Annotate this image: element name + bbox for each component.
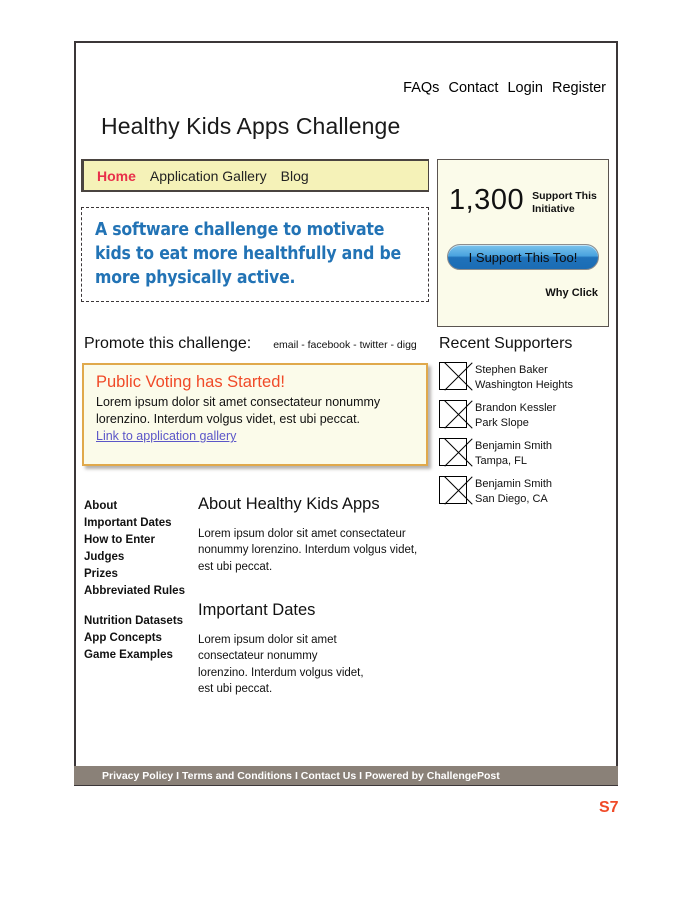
section-body-important-dates: Lorem ipsum dolor sit amet consectateur … xyxy=(198,632,370,697)
supporter-info: Benjamin Smith Tampa, FL xyxy=(475,438,552,468)
slide-label: S7 xyxy=(599,799,619,817)
public-voting-alert: Public Voting has Started! Lorem ipsum d… xyxy=(82,363,428,466)
supporter-info: Benjamin Smith San Diego, CA xyxy=(475,476,552,506)
nav-item-blog[interactable]: Blog xyxy=(281,168,309,184)
supporter-location: Park Slope xyxy=(475,416,556,431)
support-panel: 1,300 Support This Initiative I Support … xyxy=(437,159,609,327)
sidebar-item-nutrition-datasets[interactable]: Nutrition Datasets xyxy=(84,613,194,630)
avatar-placeholder-icon xyxy=(439,362,467,390)
avatar-placeholder-icon xyxy=(439,400,467,428)
tagline-text: A software challenge to motivate kids to… xyxy=(95,219,415,291)
header-link-contact[interactable]: Contact xyxy=(448,80,498,96)
recent-supporters-title: Recent Supporters xyxy=(439,335,611,353)
sidebar-item-prizes[interactable]: Prizes xyxy=(84,566,194,583)
support-caption: Support This Initiative xyxy=(532,190,608,215)
section-body-about: Lorem ipsum dolor sit amet consectateur … xyxy=(198,526,428,575)
header-link-faqs[interactable]: FAQs xyxy=(403,80,439,96)
sidebar-item-abbreviated-rules[interactable]: Abbreviated Rules xyxy=(84,583,194,600)
supporter-name: Benjamin Smith xyxy=(475,439,552,454)
section-heading-important-dates: Important Dates xyxy=(198,601,428,620)
alert-body: Lorem ipsum dolor sit amet consectateur … xyxy=(96,394,414,427)
list-item[interactable]: Benjamin Smith San Diego, CA xyxy=(439,476,611,506)
sidebar-item-app-concepts[interactable]: App Concepts xyxy=(84,630,194,647)
support-count-row: 1,300 Support This Initiative xyxy=(449,186,608,215)
support-this-too-button[interactable]: I Support This Too! xyxy=(447,244,599,270)
supporter-location: Washington Heights xyxy=(475,378,573,393)
sidebar-group-resources: Nutrition Datasets App Concepts Game Exa… xyxy=(84,613,194,664)
sidebar-item-about[interactable]: About xyxy=(84,498,194,515)
nav-item-home[interactable]: Home xyxy=(97,168,136,184)
why-click-link[interactable]: Why Click xyxy=(545,287,598,299)
sidebar-item-how-to-enter[interactable]: How to Enter xyxy=(84,532,194,549)
supporter-location: Tampa, FL xyxy=(475,454,552,469)
main-content: About Healthy Kids Apps Lorem ipsum dolo… xyxy=(198,495,428,723)
avatar-placeholder-icon xyxy=(439,438,467,466)
header-link-login[interactable]: Login xyxy=(507,80,542,96)
browser-page-frame: FAQs Contact Login Register Healthy Kids… xyxy=(74,41,618,786)
supporter-location: San Diego, CA xyxy=(475,492,552,507)
list-item[interactable]: Brandon Kessler Park Slope xyxy=(439,400,611,430)
avatar-placeholder-icon xyxy=(439,476,467,504)
supporter-info: Stephen Baker Washington Heights xyxy=(475,362,573,392)
secondary-sidebar: About Important Dates How to Enter Judge… xyxy=(84,498,194,677)
nav-item-application-gallery[interactable]: Application Gallery xyxy=(150,168,267,184)
supporter-info: Brandon Kessler Park Slope xyxy=(475,400,556,430)
promote-label: Promote this challenge: xyxy=(84,335,251,353)
primary-navigation: Home Application Gallery Blog xyxy=(81,159,429,192)
section-heading-about: About Healthy Kids Apps xyxy=(198,495,428,514)
sidebar-group-primary: About Important Dates How to Enter Judge… xyxy=(84,498,194,600)
footer-bar: Privacy Policy I Terms and Conditions I … xyxy=(74,766,618,785)
header-link-register[interactable]: Register xyxy=(552,80,606,96)
recent-supporters-panel: Recent Supporters Stephen Baker Washingt… xyxy=(439,335,611,514)
page-title: Healthy Kids Apps Challenge xyxy=(101,113,400,140)
promote-share-links[interactable]: email - facebook - twitter - digg xyxy=(273,339,417,351)
list-item[interactable]: Benjamin Smith Tampa, FL xyxy=(439,438,611,468)
support-count: 1,300 xyxy=(449,186,524,215)
list-item[interactable]: Stephen Baker Washington Heights xyxy=(439,362,611,392)
sidebar-item-judges[interactable]: Judges xyxy=(84,549,194,566)
sidebar-item-important-dates[interactable]: Important Dates xyxy=(84,515,194,532)
supporter-name: Brandon Kessler xyxy=(475,401,556,416)
supporter-name: Benjamin Smith xyxy=(475,477,552,492)
footer-links[interactable]: Privacy Policy I Terms and Conditions I … xyxy=(102,770,500,782)
sidebar-item-game-examples[interactable]: Game Examples xyxy=(84,647,194,664)
header-utility-links: FAQs Contact Login Register xyxy=(403,80,606,96)
supporter-name: Stephen Baker xyxy=(475,363,573,378)
promote-row: Promote this challenge: email - facebook… xyxy=(84,335,432,353)
alert-gallery-link[interactable]: Link to application gallery xyxy=(96,429,236,443)
alert-title: Public Voting has Started! xyxy=(96,373,414,392)
tagline-panel: A software challenge to motivate kids to… xyxy=(81,207,429,302)
